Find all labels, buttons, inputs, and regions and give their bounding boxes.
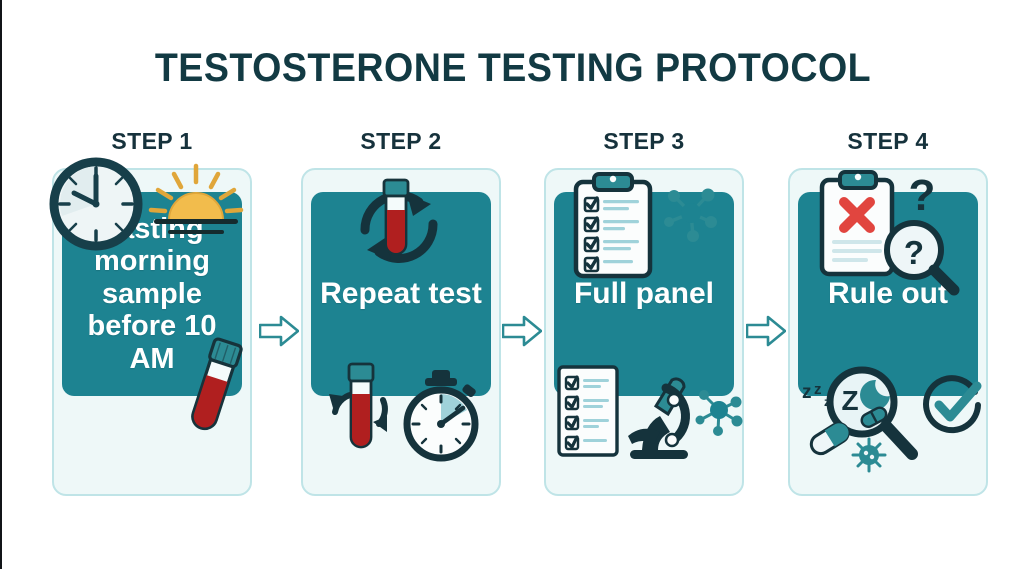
arrow-step1-to-step2: [259, 314, 299, 348]
protocol-flow: STEP 1: [46, 128, 994, 496]
infographic-canvas: TESTOSTERONE TESTING PROTOCOL STEP 1: [0, 0, 1024, 569]
step-2[interactable]: STEP 2: [295, 128, 507, 496]
step-1[interactable]: STEP 1: [46, 128, 258, 496]
step-4[interactable]: STEP 4 ?: [782, 128, 994, 496]
step-4-card-text: Rule out: [822, 277, 954, 311]
step-3-card[interactable]: Full panel: [554, 192, 734, 396]
step-4-label: STEP 4: [782, 128, 994, 155]
arrow-step2-to-step3: [502, 314, 542, 348]
arrow-step3-to-step4: [746, 314, 786, 348]
step-2-card-text: Repeat test: [314, 277, 488, 311]
step-4-card[interactable]: Rule out: [798, 192, 978, 396]
step-1-card[interactable]: Fasting morning sample before 10 AM: [62, 192, 242, 396]
step-3-label: STEP 3: [538, 128, 750, 155]
step-2-label: STEP 2: [295, 128, 507, 155]
step-3-card-text: Full panel: [568, 277, 720, 311]
step-3[interactable]: STEP 3: [538, 128, 750, 496]
step-1-label: STEP 1: [46, 128, 258, 155]
step-1-card-text: Fasting morning sample before 10 AM: [62, 213, 242, 375]
page-title: TESTOSTERONE TESTING PROTOCOL: [33, 46, 994, 91]
step-2-card[interactable]: Repeat test: [311, 192, 491, 396]
